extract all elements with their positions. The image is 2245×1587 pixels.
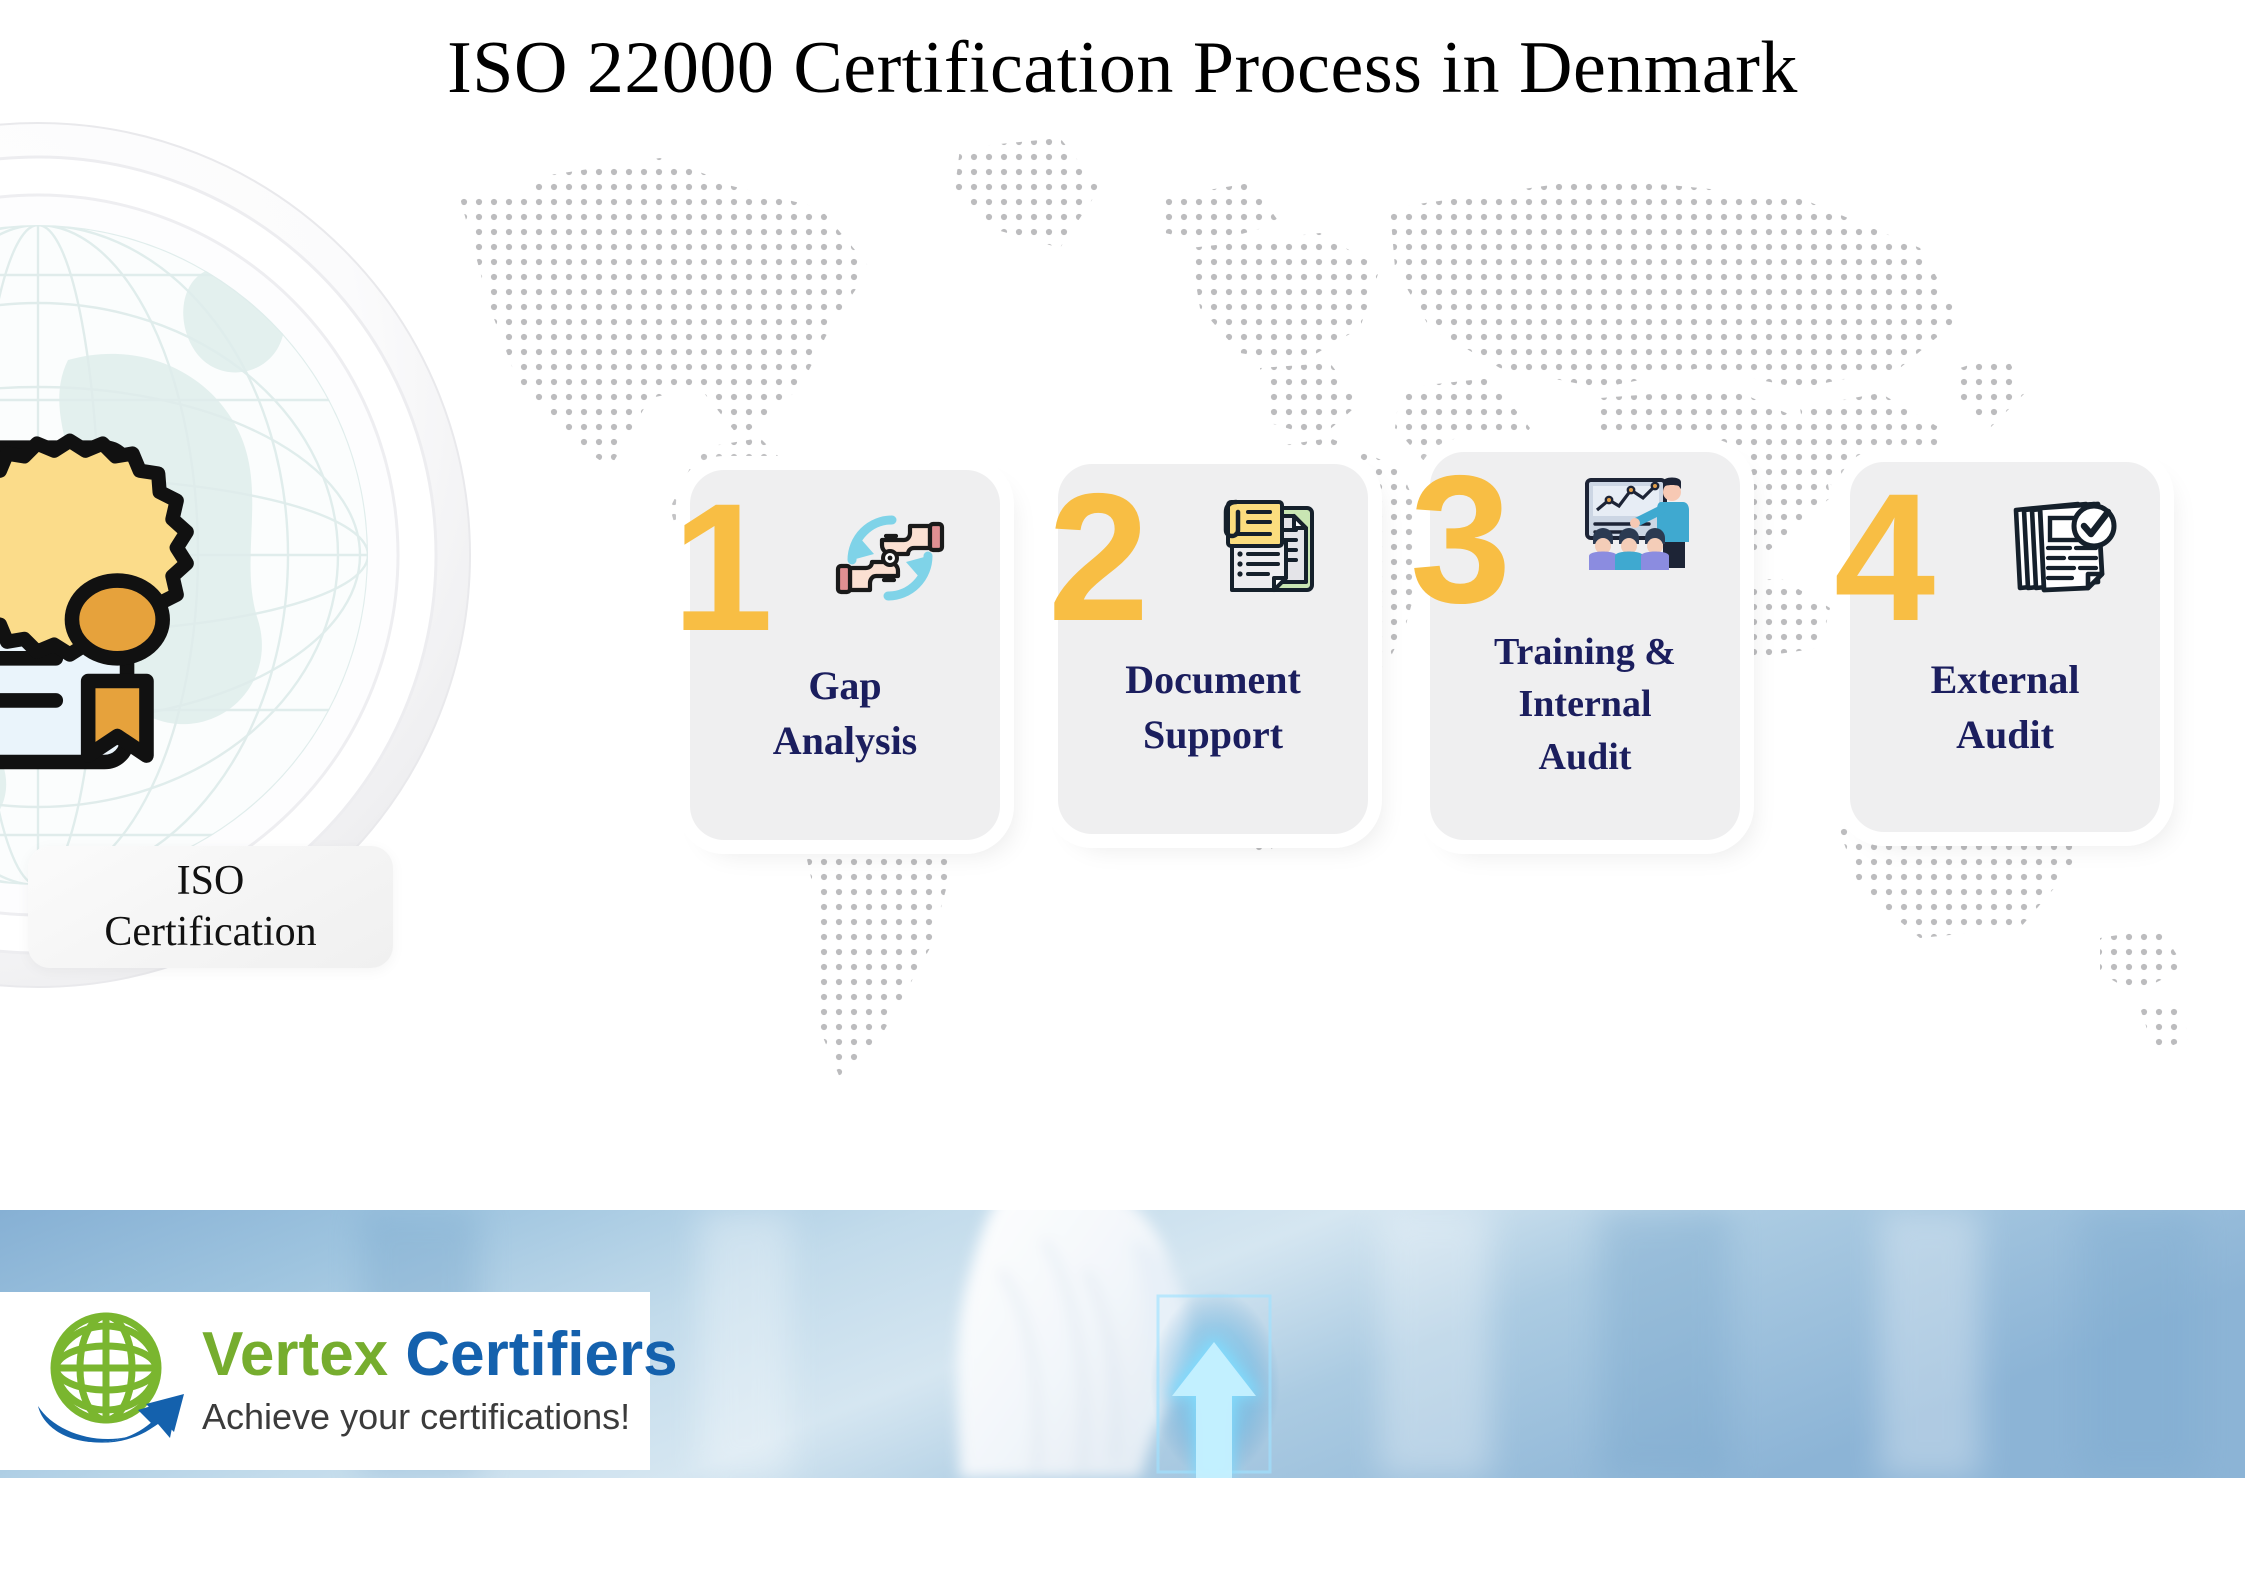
step-card-external-audit[interactable]: 4 bbox=[1850, 462, 2160, 832]
documents-check-icon bbox=[2002, 486, 2122, 606]
step-card-training-internal-audit[interactable]: 3 bbox=[1430, 452, 1740, 840]
step-card-header: 2 bbox=[1058, 464, 1368, 644]
footer-whitespace bbox=[0, 1478, 2245, 1587]
footer-banner: Vertex Certifiers Achieve your certifica… bbox=[0, 1210, 2245, 1478]
documents-paperclip-icon bbox=[1208, 486, 1328, 606]
brand-word-certifiers: Certifiers bbox=[405, 1320, 677, 1389]
step-label-line-1: External bbox=[1862, 652, 2148, 707]
step-card-label: External Audit bbox=[1850, 652, 2160, 788]
step-number-1: 1 bbox=[672, 476, 767, 658]
brand-word-vertex: Vertex bbox=[202, 1320, 388, 1389]
iso-label-line-2: Certification bbox=[104, 907, 316, 958]
step-card-header: 3 bbox=[1430, 452, 1740, 632]
page-title-text: ISO 22000 Certification Process in Denma… bbox=[447, 26, 1798, 111]
step-label-line-1: Document bbox=[1070, 652, 1356, 707]
step-label-line-2: Audit bbox=[1862, 707, 2148, 762]
step-card-header: 1 bbox=[690, 470, 1000, 650]
brand-name: Vertex Certifiers bbox=[202, 1324, 678, 1386]
step-label-line-2: Internal bbox=[1442, 678, 1728, 730]
training-presentation-icon bbox=[1575, 466, 1695, 586]
step-number-2: 2 bbox=[1048, 466, 1143, 648]
process-steps: 1 bbox=[690, 448, 2235, 878]
page-title: ISO 22000 Certification Process in Denma… bbox=[0, 18, 2245, 118]
iso-label-line-1: ISO bbox=[177, 856, 245, 907]
brand-logo[interactable]: Vertex Certifiers Achieve your certifica… bbox=[0, 1292, 650, 1470]
iso-certification-medallion: ISO Certification bbox=[0, 118, 598, 1090]
step-card-header: 4 bbox=[1850, 462, 2160, 642]
step-card-label: Gap Analysis bbox=[690, 658, 1000, 794]
step-card-label: Training & Internal Audit bbox=[1430, 626, 1740, 809]
step-card-label: Document Support bbox=[1058, 652, 1368, 788]
iso-certification-label: ISO Certification bbox=[28, 846, 393, 968]
step-card-document-support[interactable]: 2 bbox=[1058, 464, 1368, 834]
poster-root: ISO 22000 Certification Process in Denma… bbox=[0, 0, 2245, 1587]
vertex-globe-arrow-logo bbox=[28, 1306, 192, 1456]
step-number-3: 3 bbox=[1410, 448, 1505, 630]
step-label-line-3: Audit bbox=[1442, 731, 1728, 783]
step-label-line-2: Analysis bbox=[702, 713, 988, 768]
handshake-collaboration-icon bbox=[830, 498, 950, 618]
step-card-gap-analysis[interactable]: 1 bbox=[690, 470, 1000, 840]
step-label-line-2: Support bbox=[1070, 707, 1356, 762]
brand-text: Vertex Certifiers Achieve your certifica… bbox=[202, 1324, 678, 1438]
step-number-4: 4 bbox=[1834, 466, 1929, 648]
main-stage: ISO Certification 1 bbox=[0, 118, 2245, 1210]
brand-tagline: Achieve your certifications! bbox=[202, 1396, 678, 1438]
